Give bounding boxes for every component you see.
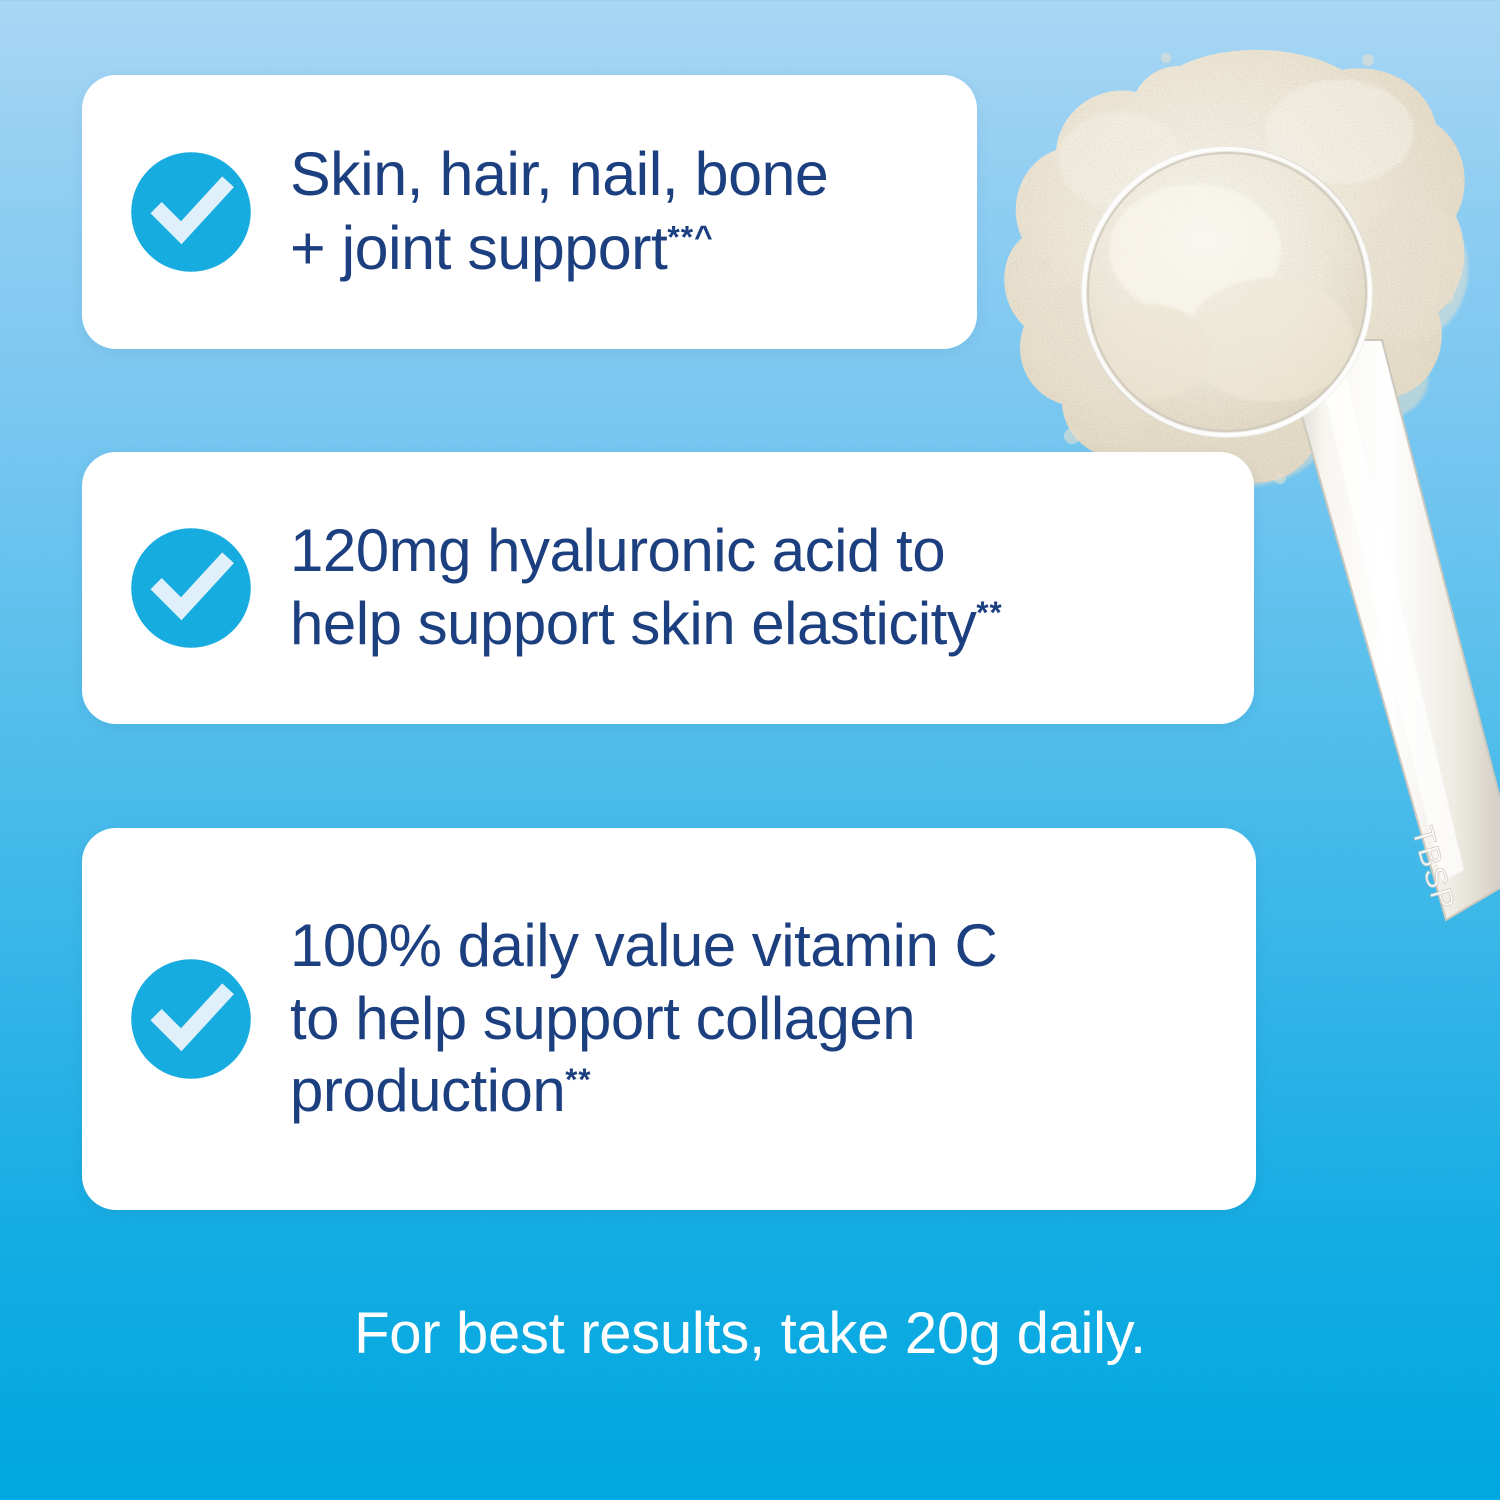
benefit-text-2: 120mg hyaluronic acid to help support sk… <box>290 515 1027 660</box>
benefit-superscript-3: ** <box>565 1062 591 1097</box>
benefit-card-2: 120mg hyaluronic acid to help support sk… <box>82 452 1254 724</box>
benefit-text-1: Skin, hair, nail, bone + joint support**… <box>290 138 852 286</box>
check-circle-icon <box>130 151 252 273</box>
scoop-handle: TBSP <box>1280 340 1500 920</box>
benefit-line-1b: + joint support <box>290 214 667 282</box>
scoop-bowl <box>1081 146 1373 438</box>
svg-text:TBSP: TBSP <box>1405 823 1461 915</box>
scoop-engraving-tbsp: TBSP <box>1405 823 1461 915</box>
benefit-line-3b: to help support collagen <box>290 985 915 1052</box>
powder-pile <box>1004 50 1468 488</box>
benefit-line-3a: 100% daily value vitamin C <box>290 912 997 979</box>
benefit-superscript-2: ** <box>976 595 1002 630</box>
benefit-text-3: 100% daily value vitamin C to help suppo… <box>290 910 1021 1128</box>
usage-instruction-text: For best results, take 20g daily. <box>0 1300 1500 1367</box>
check-circle-icon <box>130 958 252 1080</box>
benefit-line-2a: 120mg hyaluronic acid to <box>290 517 945 584</box>
benefit-line-3c: production <box>290 1057 565 1124</box>
check-circle-icon <box>130 527 252 649</box>
benefit-line-2b: help support skin elasticity <box>290 590 976 657</box>
benefit-card-3: 100% daily value vitamin C to help suppo… <box>82 828 1256 1210</box>
benefit-line-1a: Skin, hair, nail, bone <box>290 140 828 208</box>
benefit-card-1: Skin, hair, nail, bone + joint support**… <box>82 75 977 349</box>
benefit-superscript-1: **^ <box>667 219 713 255</box>
